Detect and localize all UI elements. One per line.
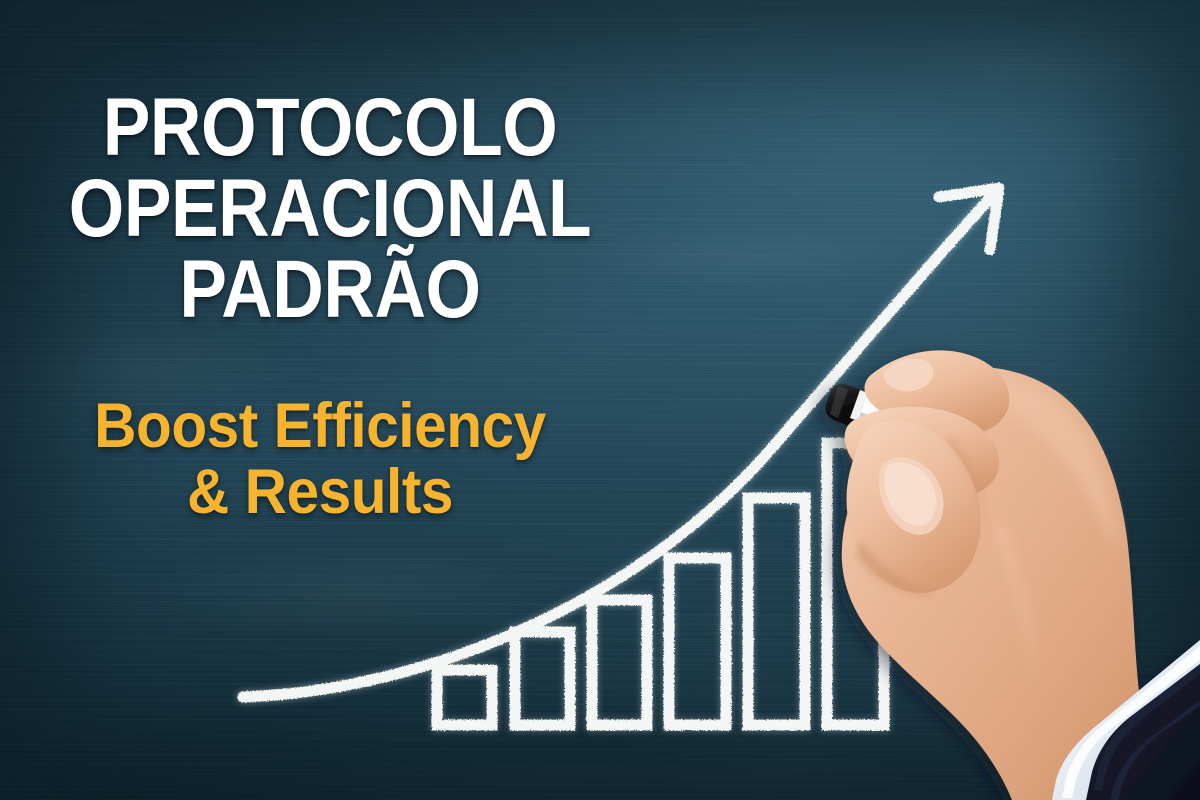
hand-with-marker <box>0 0 1200 800</box>
poster-canvas: PROTOCOLO OPERACIONAL PADRÃO Boost Effic… <box>0 0 1200 800</box>
